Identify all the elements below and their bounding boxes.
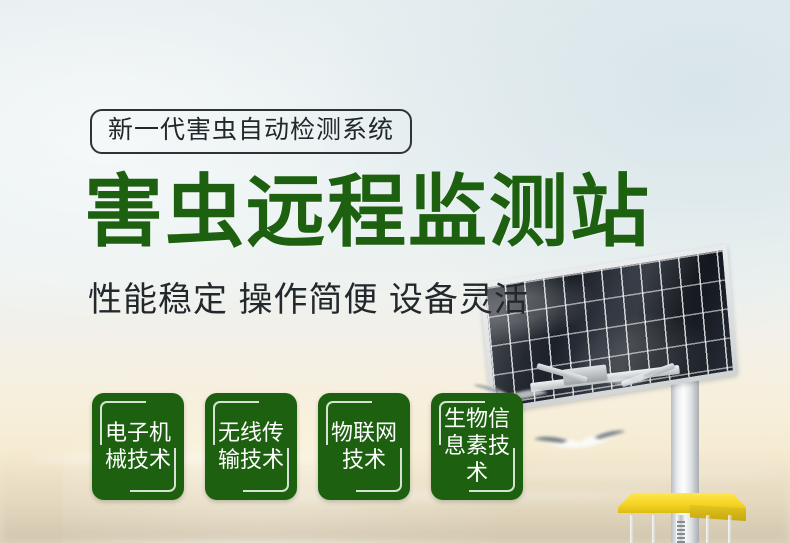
tube-coil — [677, 521, 685, 543]
feature-tag-list: 电子机械技术 无线传输技术 物联网技术 生物信息素技术 — [92, 393, 523, 500]
yellow-trap-housing — [618, 493, 746, 519]
feature-tag-pheromone[interactable]: 生物信息素技术 — [431, 393, 523, 500]
tagline-badge: 新一代害虫自动检测系统 — [90, 109, 412, 154]
feature-tag-iot[interactable]: 物联网技术 — [318, 393, 410, 500]
feature-tag-electromechanical[interactable]: 电子机械技术 — [92, 393, 184, 500]
feature-tag-label: 物联网技术 — [327, 420, 401, 474]
page-subtitle: 性能稳定 操作简便 设备灵活 — [88, 283, 529, 317]
collection-rod-4 — [728, 515, 732, 543]
page-title: 害虫远程监测站 — [84, 172, 651, 251]
promo-banner: 新一代害虫自动检测系统 害虫远程监测站 性能稳定 操作简便 设备灵活 电子机械技… — [0, 0, 790, 543]
feature-tag-label: 无线传输技术 — [214, 420, 288, 474]
collection-rod-1 — [630, 515, 634, 543]
bird-1 — [531, 420, 630, 460]
collection-rod-3 — [706, 515, 710, 543]
feature-tag-label: 生物信息素技术 — [440, 406, 514, 486]
feature-tag-label: 电子机械技术 — [101, 420, 175, 474]
feature-tag-wireless[interactable]: 无线传输技术 — [205, 393, 297, 500]
collection-rod-2 — [652, 515, 656, 543]
